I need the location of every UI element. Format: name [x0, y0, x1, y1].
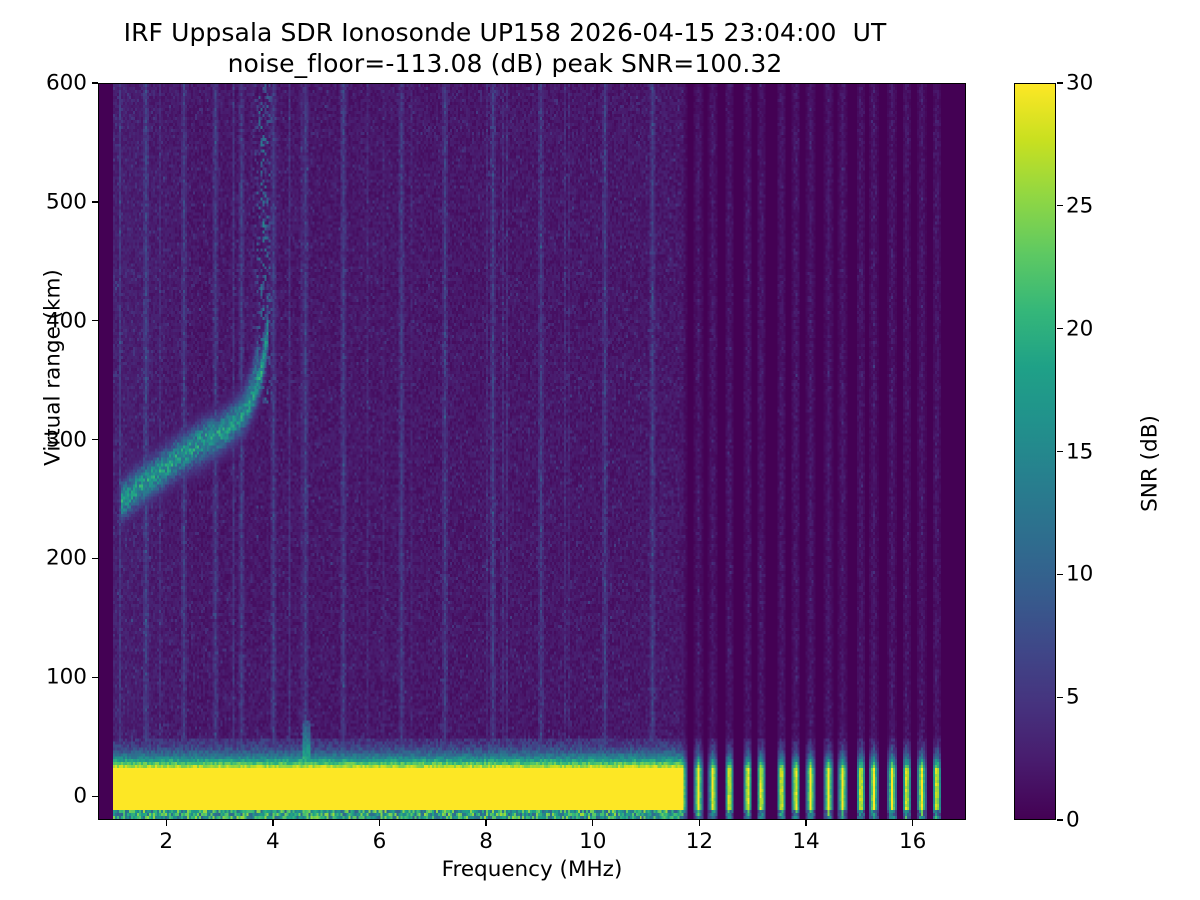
y-tick-label: 100: [46, 665, 87, 690]
y-tick-label: 200: [46, 546, 87, 571]
ionogram-heatmap: [99, 84, 965, 819]
ionogram-figure: IRF Uppsala SDR Ionosonde UP158 2026-04-…: [0, 0, 1200, 900]
ionogram-canvas: [99, 84, 965, 819]
x-tick-mark: [912, 820, 913, 826]
y-tick-mark: [92, 201, 98, 202]
x-tick-mark: [592, 820, 593, 826]
colorbar-tick-label: 20: [1066, 316, 1093, 341]
y-tick-label: 0: [73, 784, 87, 809]
colorbar-tick-label: 15: [1066, 439, 1093, 464]
ionogram-axes: [98, 83, 966, 820]
colorbar-tick-mark: [1057, 451, 1063, 452]
colorbar-label: SNR (dB): [1138, 314, 1163, 614]
colorbar-tick-label: 30: [1066, 71, 1093, 96]
colorbar-gradient: [1015, 84, 1055, 819]
x-axis-label: Frequency (MHz): [98, 857, 966, 882]
x-tick-label: 6: [373, 829, 387, 854]
x-tick-mark: [485, 820, 486, 826]
x-tick-label: 12: [686, 829, 713, 854]
x-tick-label: 16: [899, 829, 926, 854]
colorbar-tick-mark: [1057, 82, 1063, 83]
x-tick-mark: [805, 820, 806, 826]
x-tick-label: 4: [266, 829, 280, 854]
colorbar-tick-label: 25: [1066, 193, 1093, 218]
colorbar-tick-label: 0: [1066, 808, 1080, 833]
colorbar-tick-label: 10: [1066, 562, 1093, 587]
x-tick-mark: [379, 820, 380, 826]
y-axis-label: Virtual range (km): [41, 218, 66, 518]
title-line-1: IRF Uppsala SDR Ionosonde UP158 2026-04-…: [0, 18, 1010, 49]
y-tick-mark: [92, 558, 98, 559]
x-tick-label: 10: [579, 829, 606, 854]
colorbar-tick-label: 5: [1066, 685, 1080, 710]
x-tick-mark: [699, 820, 700, 826]
x-tick-label: 2: [159, 829, 173, 854]
y-tick-mark: [92, 320, 98, 321]
colorbar-tick-mark: [1057, 697, 1063, 698]
x-tick-label: 14: [792, 829, 819, 854]
x-tick-mark: [272, 820, 273, 826]
y-tick-label: 600: [46, 71, 87, 96]
y-tick-mark: [92, 677, 98, 678]
colorbar-tick-mark: [1057, 328, 1063, 329]
y-tick-mark: [92, 82, 98, 83]
colorbar-tick-mark: [1057, 574, 1063, 575]
colorbar: [1014, 83, 1056, 820]
y-tick-mark: [92, 439, 98, 440]
x-tick-mark: [166, 820, 167, 826]
y-tick-mark: [92, 796, 98, 797]
y-tick-label: 500: [46, 189, 87, 214]
title-line-2: noise_floor=-113.08 (dB) peak SNR=100.32: [0, 49, 1010, 80]
colorbar-tick-mark: [1057, 819, 1063, 820]
x-tick-label: 8: [479, 829, 493, 854]
figure-title: IRF Uppsala SDR Ionosonde UP158 2026-04-…: [0, 18, 1010, 79]
colorbar-tick-mark: [1057, 205, 1063, 206]
